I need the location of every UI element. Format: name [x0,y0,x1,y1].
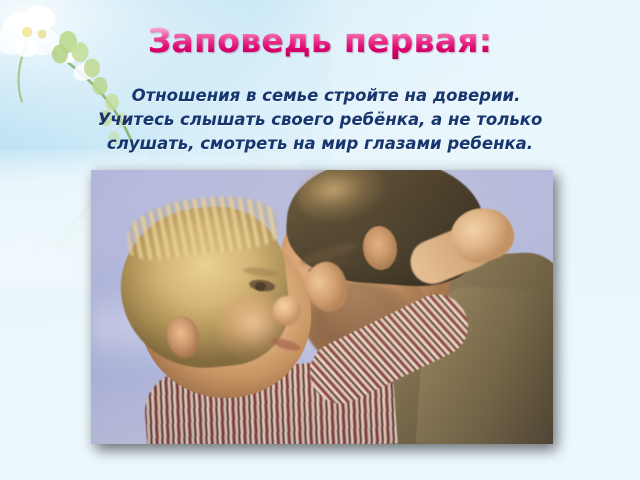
body-line-3: слушать, смотреть на мир глазами ребенка… [34,132,606,156]
body-line-1: Отношения в семье стройте на доверии. [34,84,606,108]
photo-father-and-son [91,170,553,444]
presentation-slide: Заповедь первая: Отношения в семье строй… [0,0,640,480]
body-line-2: Учитесь слышать своего ребёнка, а не тол… [34,108,606,132]
slide-body-text: Отношения в семье стройте на доверии. Уч… [34,84,606,156]
photo-color-grade [91,170,553,444]
title-container: Заповедь первая: [0,22,640,60]
slide-title: Заповедь первая: [148,22,493,60]
